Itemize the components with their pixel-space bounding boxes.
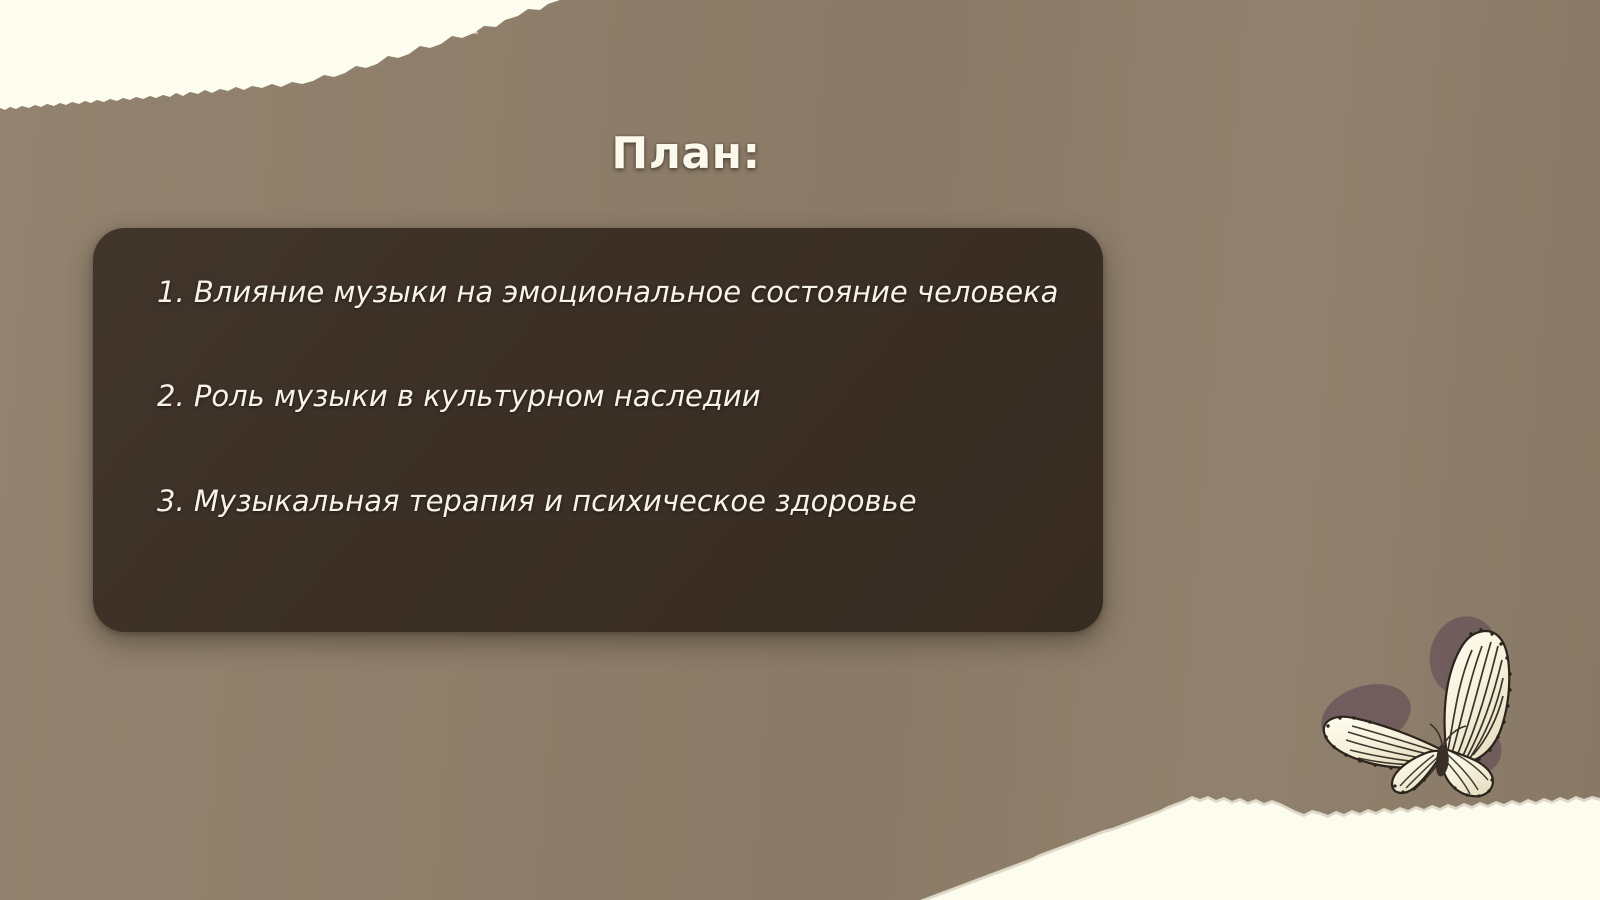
list-item: 1. Влияние музыки на эмоциональное состо… <box>157 274 1063 310</box>
list-item: 2. Роль музыки в культурном наследии <box>157 378 1063 414</box>
plan-list: 1. Влияние музыки на эмоциональное состо… <box>157 274 1063 519</box>
page-title: План: <box>0 128 1372 179</box>
butterfly-icon <box>1296 598 1528 810</box>
torn-paper-edge-top-icon <box>0 0 1600 120</box>
presentation-slide: План: 1. Влияние музыки на эмоциональное… <box>0 0 1600 900</box>
list-item: 3. Музыкальная терапия и психическое здо… <box>157 483 1063 519</box>
plan-card: 1. Влияние музыки на эмоциональное состо… <box>93 228 1103 632</box>
